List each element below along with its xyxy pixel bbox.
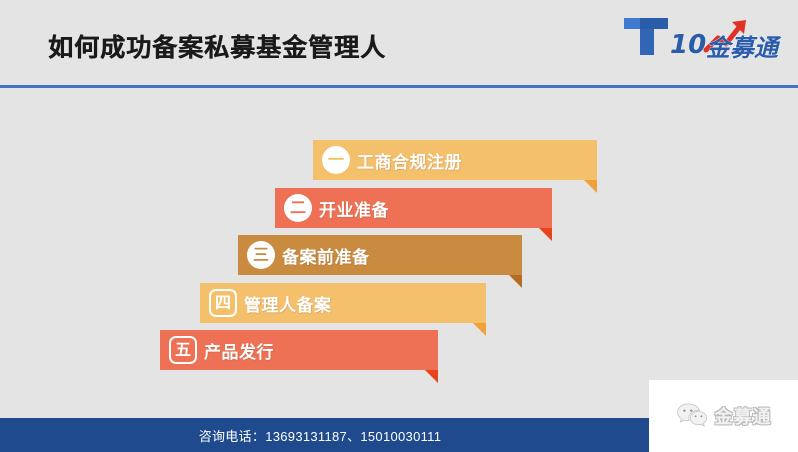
slide-canvas: 如何成功备案私募基金管理人 10 金募通 一 工商合规注册 二 [0, 0, 798, 452]
logo-brand-text: 金募通 [706, 34, 782, 60]
step-shadow-3 [509, 275, 522, 288]
step-shadow-4 [473, 323, 486, 336]
step-row-2[interactable]: 二 开业准备 [275, 188, 552, 228]
wechat-small-eye-left [694, 415, 696, 417]
step-label-3: 备案前准备 [282, 235, 370, 275]
step-row-4[interactable]: 四 管理人备案 [200, 283, 486, 323]
step-label-2: 开业准备 [319, 188, 389, 228]
t10-jinmutong-logo: 10 金募通 [620, 8, 790, 60]
step-row-5[interactable]: 五 产品发行 [160, 330, 438, 370]
wechat-eye-right [690, 409, 692, 411]
step-badge-2: 二 [284, 194, 312, 222]
step-bar-2 [275, 188, 552, 228]
step-shadow-2 [539, 228, 552, 241]
page-title: 如何成功备案私募基金管理人 [48, 28, 386, 64]
step-label-5: 产品发行 [204, 330, 274, 370]
step-badge-3: 三 [247, 241, 275, 269]
wechat-watermark-card: 金募通 [649, 380, 798, 452]
step-bar-3 [238, 235, 522, 275]
step-badge-5: 五 [169, 336, 197, 364]
step-row-3[interactable]: 三 备案前准备 [238, 235, 522, 275]
logo-ten-text: 10 [670, 30, 706, 60]
wechat-brand-label: 金募通 [715, 403, 772, 429]
wechat-small-eye-right [700, 415, 702, 417]
step-label-4: 管理人备案 [244, 283, 332, 323]
logo-t-mark [624, 18, 668, 55]
wechat-eye-left [683, 409, 685, 411]
step-bar-5 [160, 330, 438, 370]
step-shadow-1 [584, 180, 597, 193]
step-badge-1: 一 [322, 146, 350, 174]
wechat-icon [676, 402, 708, 430]
step-bar-1 [313, 140, 597, 180]
header-divider-rule [0, 85, 798, 88]
step-bar-4 [200, 283, 486, 323]
step-shadow-5 [425, 370, 438, 383]
step-label-1: 工商合规注册 [357, 140, 462, 180]
step-badge-4: 四 [209, 289, 237, 317]
step-row-1[interactable]: 一 工商合规注册 [313, 140, 597, 180]
footer-contact-text: 咨询电话：13693131187、15010030111 [0, 418, 640, 452]
